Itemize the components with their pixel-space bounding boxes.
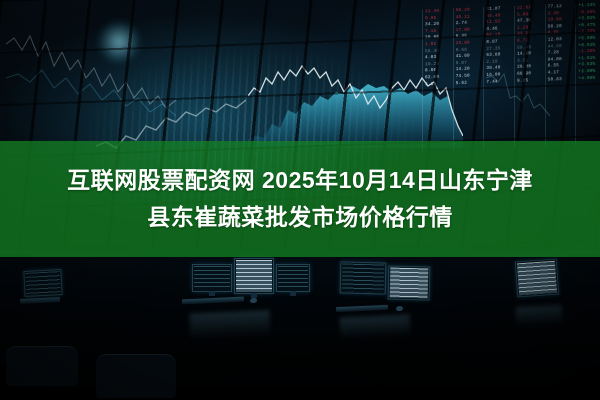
desk-monitor-left [23, 269, 62, 297]
desk-reflection-far-right [516, 305, 563, 327]
desk-keyboard-left [20, 297, 60, 304]
desk-mouse-center [250, 298, 258, 304]
workstation-desk-zone [0, 250, 600, 400]
banner-title-line-1: 互联网股票配资网 2025年10月14日山东宁津 [67, 162, 533, 199]
chair-center [96, 354, 176, 398]
desk-monitor-right [340, 261, 387, 294]
desk-reflection-right [340, 314, 411, 339]
banner-image: 12.480.9634.207.1528.601.9256.404.0319.2… [0, 0, 600, 400]
desk-monitor-center [234, 258, 274, 294]
title-overlay-band: 互联网股票配资网 2025年10月14日山东宁津 县东崔蔬菜批发市场价格行情 [0, 141, 600, 257]
desk-monitor-center-left [192, 264, 232, 292]
banner-title-line-2: 县东崔蔬菜批发市场价格行情 [147, 199, 453, 236]
desk-monitor-center-right [276, 264, 310, 292]
desk-keyboard-center [182, 297, 244, 305]
chair-left [6, 346, 78, 386]
desk-mouse-right [396, 306, 404, 312]
desk-keyboard-right [336, 305, 388, 312]
desk-laptop-far-right [515, 259, 559, 298]
desk-reflection-center [189, 310, 270, 340]
desk-monitor-right-bright [388, 265, 431, 300]
